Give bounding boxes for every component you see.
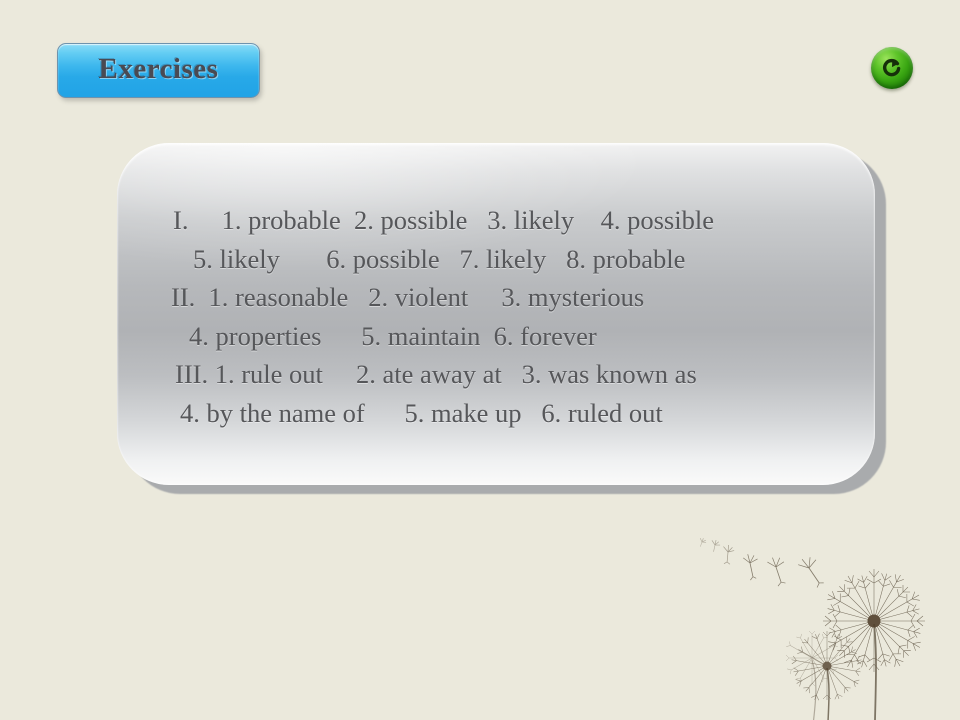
slide-canvas: Exercises I. 1. probable 2. possible 3. …	[0, 0, 960, 720]
answers-panel: I. 1. probable 2. possible 3. likely 4. …	[117, 143, 875, 485]
exercises-title-label: Exercises	[99, 53, 219, 88]
exercises-title-button[interactable]: Exercises	[57, 43, 260, 98]
answer-line-3: II. 1. reasonable 2. violent 3. mysterio…	[147, 278, 845, 317]
answer-line-6: 4. by the name of 5. make up 6. ruled ou…	[147, 394, 845, 433]
answer-line-2: 5. likely 6. possible 7. likely 8. proba…	[147, 240, 845, 279]
return-button[interactable]	[871, 47, 913, 89]
answer-line-5: III. 1. rule out 2. ate away at 3. was k…	[147, 355, 845, 394]
answers-list: I. 1. probable 2. possible 3. likely 4. …	[117, 143, 875, 485]
refresh-ccw-icon	[879, 55, 905, 81]
answer-line-4: 4. properties 5. maintain 6. forever	[147, 317, 845, 356]
answer-line-1: I. 1. probable 2. possible 3. likely 4. …	[147, 201, 845, 240]
dandelion-illustration	[700, 520, 960, 720]
